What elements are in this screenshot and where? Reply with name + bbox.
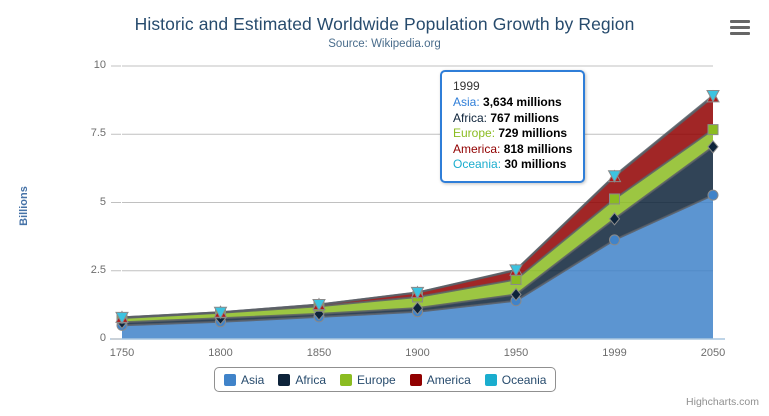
legend-swatch-africa bbox=[278, 374, 290, 386]
tooltip-header: 1999 bbox=[453, 79, 572, 93]
tooltip-value-america: 818 millions bbox=[504, 142, 573, 156]
tooltip-row-oceania: Oceania: 30 millions bbox=[453, 157, 572, 173]
yaxis-tick-10: 10 bbox=[66, 59, 106, 71]
xaxis-tick-1999: 1999 bbox=[585, 347, 645, 359]
legend-label-oceania: Oceania bbox=[502, 373, 547, 387]
highcharts-credits[interactable]: Highcharts.com bbox=[686, 396, 759, 408]
tooltip-name-asia: Asia: bbox=[453, 95, 480, 109]
tooltip-row-africa: Africa: 767 millions bbox=[453, 111, 572, 127]
marker-asia-2050[interactable] bbox=[708, 190, 718, 200]
chart-tooltip: 1999 Asia: 3,634 millions Africa: 767 mi… bbox=[440, 70, 585, 183]
legend-item-africa[interactable]: Africa bbox=[278, 373, 326, 387]
tooltip-row-america: America: 818 millions bbox=[453, 142, 572, 158]
legend-label-africa: Africa bbox=[295, 373, 326, 387]
legend-item-europe[interactable]: Europe bbox=[340, 373, 396, 387]
legend-label-europe: Europe bbox=[357, 373, 396, 387]
xaxis-tick-1850: 1850 bbox=[289, 347, 349, 359]
marker-europe-1999[interactable] bbox=[610, 194, 620, 204]
marker-europe-2050[interactable] bbox=[708, 125, 718, 135]
marker-asia-1999[interactable] bbox=[610, 235, 620, 245]
yaxis-tick-0: 0 bbox=[66, 332, 106, 344]
tooltip-name-europe: Europe: bbox=[453, 126, 495, 140]
tooltip-value-africa: 767 millions bbox=[490, 111, 559, 125]
legend-swatch-asia bbox=[224, 374, 236, 386]
legend-swatch-oceania bbox=[485, 374, 497, 386]
legend-item-america[interactable]: America bbox=[410, 373, 471, 387]
yaxis-tick-7.5: 7.5 bbox=[66, 127, 106, 139]
legend-item-asia[interactable]: Asia bbox=[224, 373, 264, 387]
xaxis-tick-1800: 1800 bbox=[191, 347, 251, 359]
xaxis-tick-1900: 1900 bbox=[388, 347, 448, 359]
xaxis-tick-2050: 2050 bbox=[683, 347, 743, 359]
legend-swatch-europe bbox=[340, 374, 352, 386]
yaxis-title: Billions bbox=[18, 166, 30, 246]
legend-label-asia: Asia bbox=[241, 373, 264, 387]
xaxis-tick-1750: 1750 bbox=[92, 347, 152, 359]
tooltip-row-europe: Europe: 729 millions bbox=[453, 126, 572, 142]
yaxis-tick-2.5: 2.5 bbox=[66, 264, 106, 276]
tooltip-value-asia: 3,634 millions bbox=[483, 95, 562, 109]
tooltip-value-europe: 729 millions bbox=[498, 126, 567, 140]
highcharts-container: Historic and Estimated Worldwide Populat… bbox=[0, 0, 769, 416]
tooltip-row-asia: Asia: 3,634 millions bbox=[453, 95, 572, 111]
legend-label-america: America bbox=[427, 373, 471, 387]
xaxis-tick-1950: 1950 bbox=[486, 347, 546, 359]
chart-legend: Asia Africa Europe America Oceania bbox=[214, 367, 556, 392]
tooltip-name-america: America: bbox=[453, 142, 500, 156]
tooltip-name-oceania: Oceania: bbox=[453, 157, 501, 171]
legend-item-oceania[interactable]: Oceania bbox=[485, 373, 547, 387]
tooltip-name-africa: Africa: bbox=[453, 111, 487, 125]
legend-swatch-america bbox=[410, 374, 422, 386]
yaxis-tick-5: 5 bbox=[66, 196, 106, 208]
tooltip-value-oceania: 30 millions bbox=[504, 157, 566, 171]
